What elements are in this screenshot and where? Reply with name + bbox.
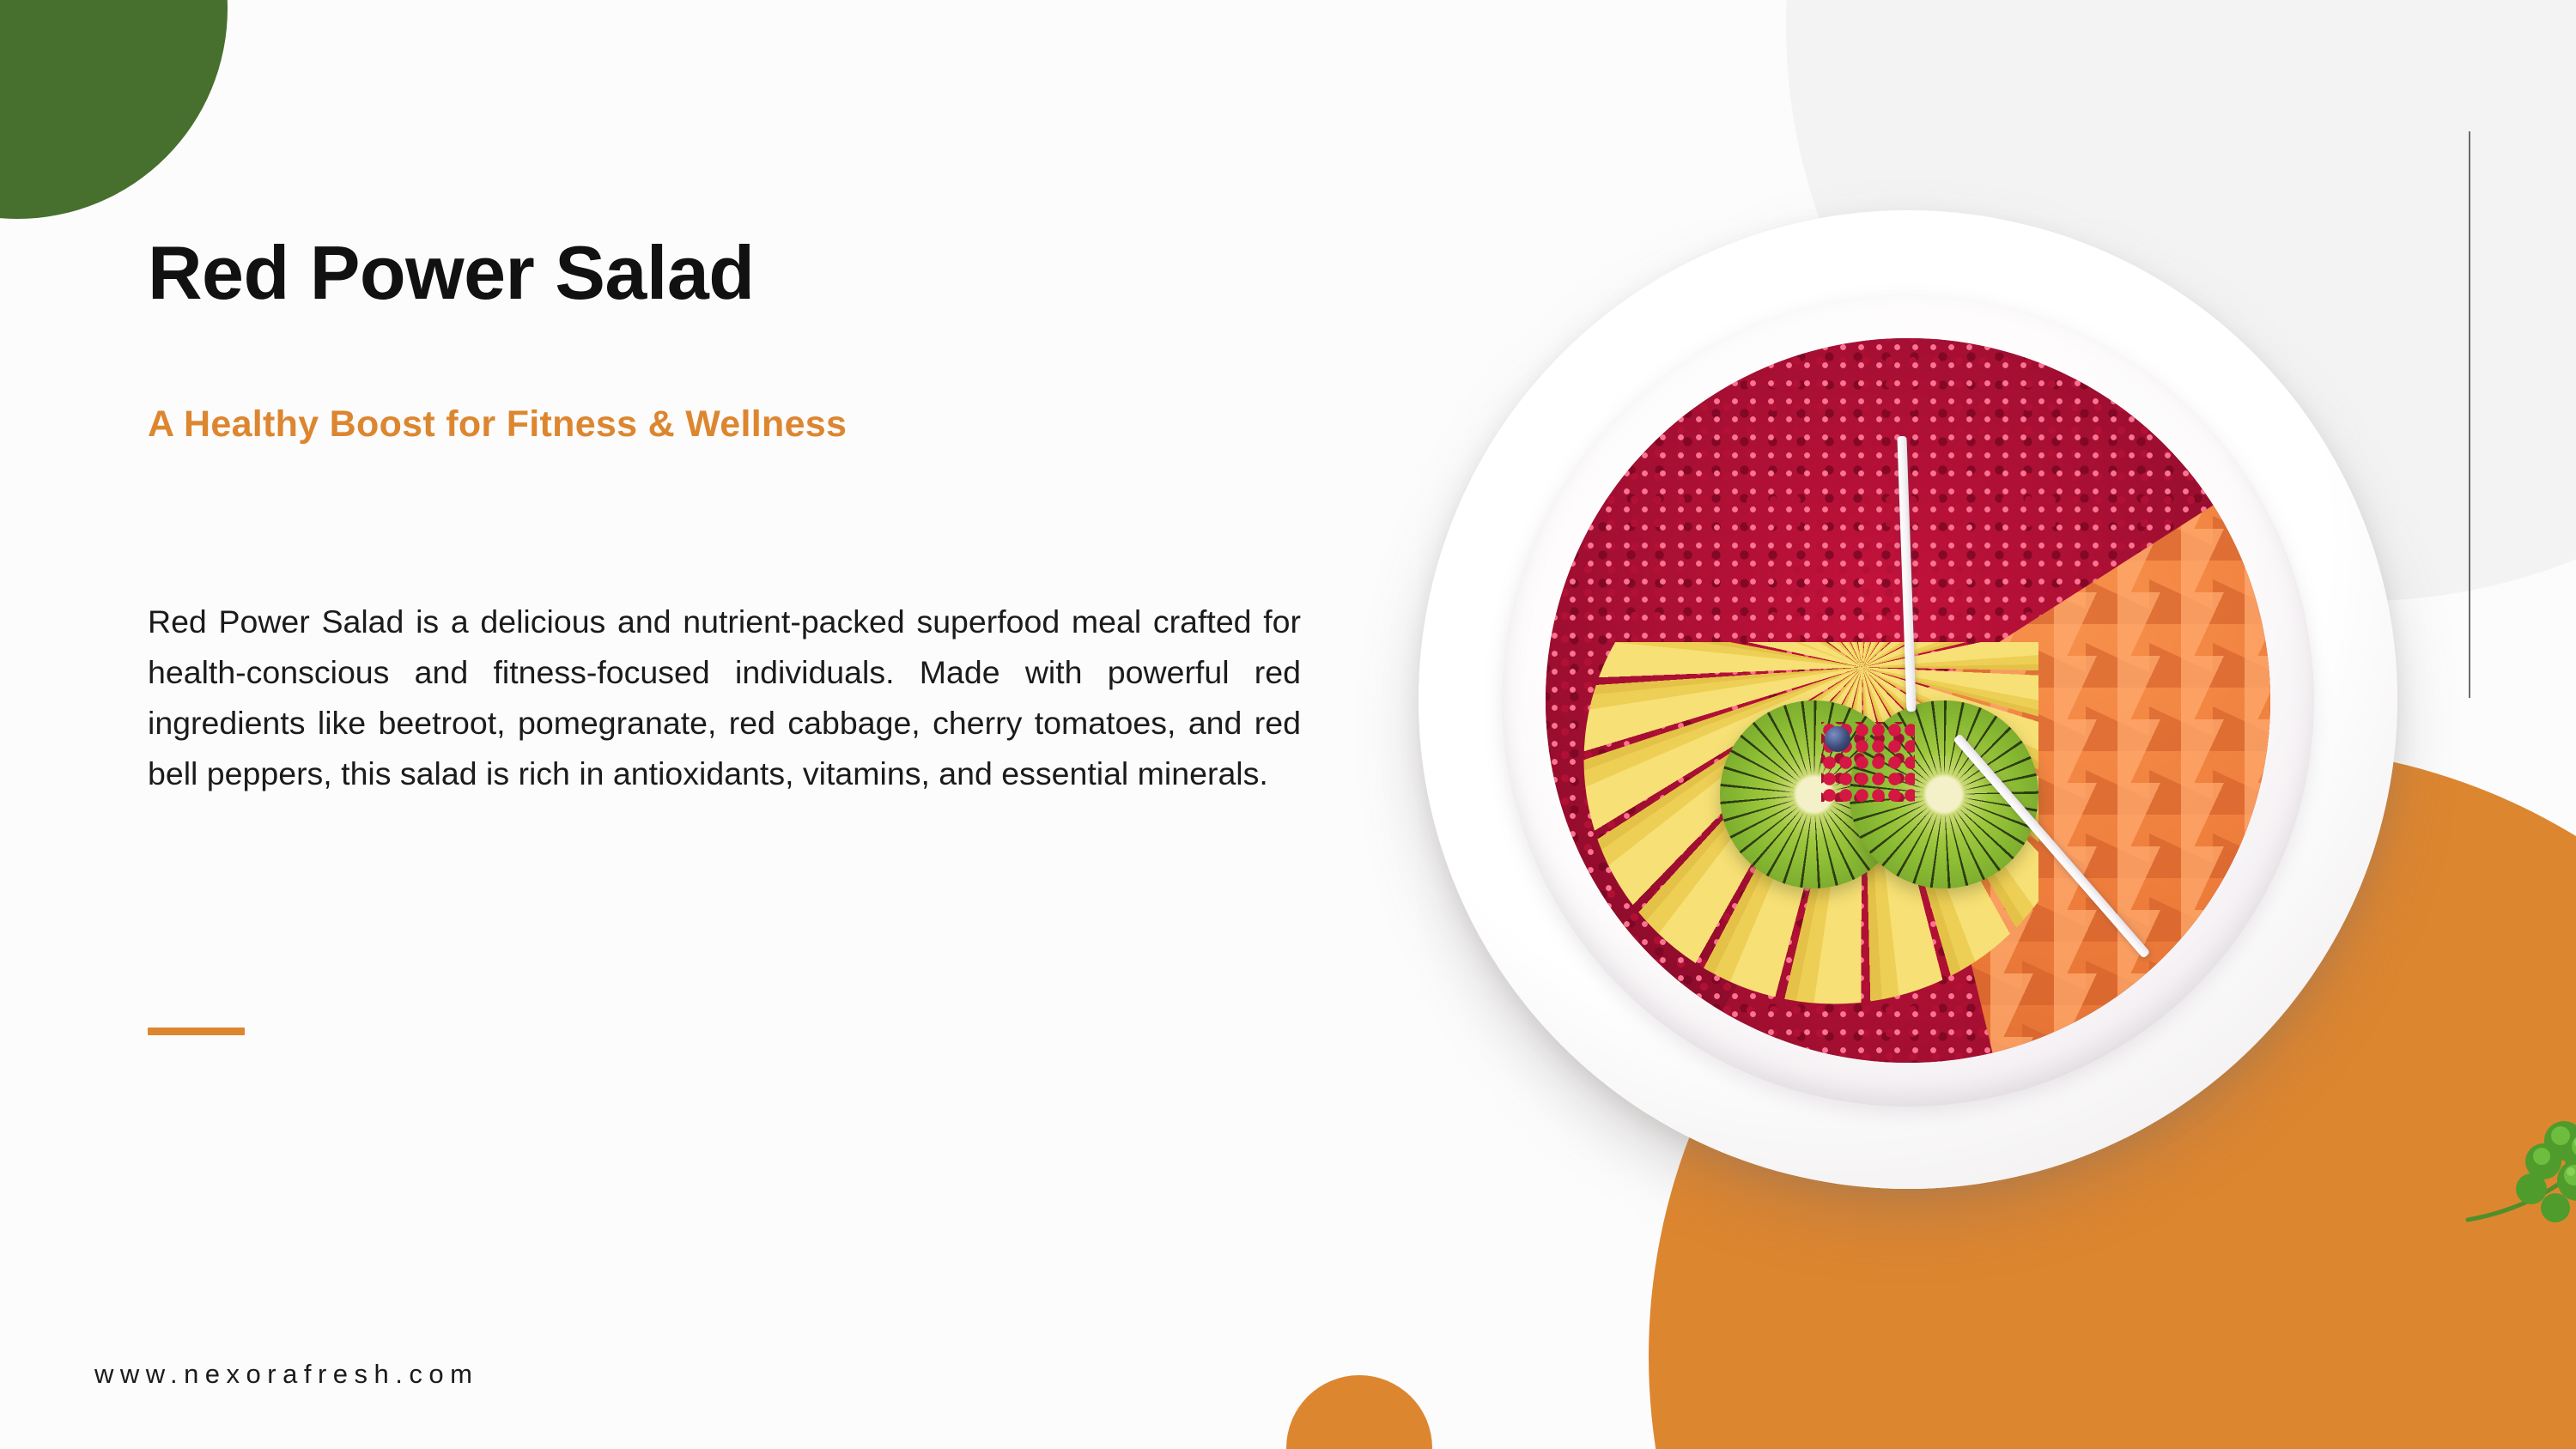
orange-dot-shape bbox=[1286, 1375, 1432, 1449]
vertical-divider-line bbox=[2469, 131, 2470, 698]
page-subtitle: A Healthy Boost for Fitness & Wellness bbox=[148, 403, 847, 446]
page-title: Red Power Salad bbox=[148, 233, 755, 312]
blueberry bbox=[1825, 726, 1850, 752]
bowl-contents bbox=[1546, 338, 2270, 1063]
orange-accent-rule bbox=[148, 1028, 245, 1035]
slide-canvas: Red Power Salad A Healthy Boost for Fitn… bbox=[0, 0, 2576, 1449]
fruit-platter-photo bbox=[1384, 150, 2440, 1258]
body-paragraph: Red Power Salad is a delicious and nutri… bbox=[148, 597, 1301, 799]
website-url[interactable]: www.nexorafresh.com bbox=[94, 1359, 478, 1390]
parsley-garnish bbox=[2458, 1052, 2576, 1266]
text-column: Red Power Salad A Healthy Boost for Fitn… bbox=[148, 0, 1307, 1449]
